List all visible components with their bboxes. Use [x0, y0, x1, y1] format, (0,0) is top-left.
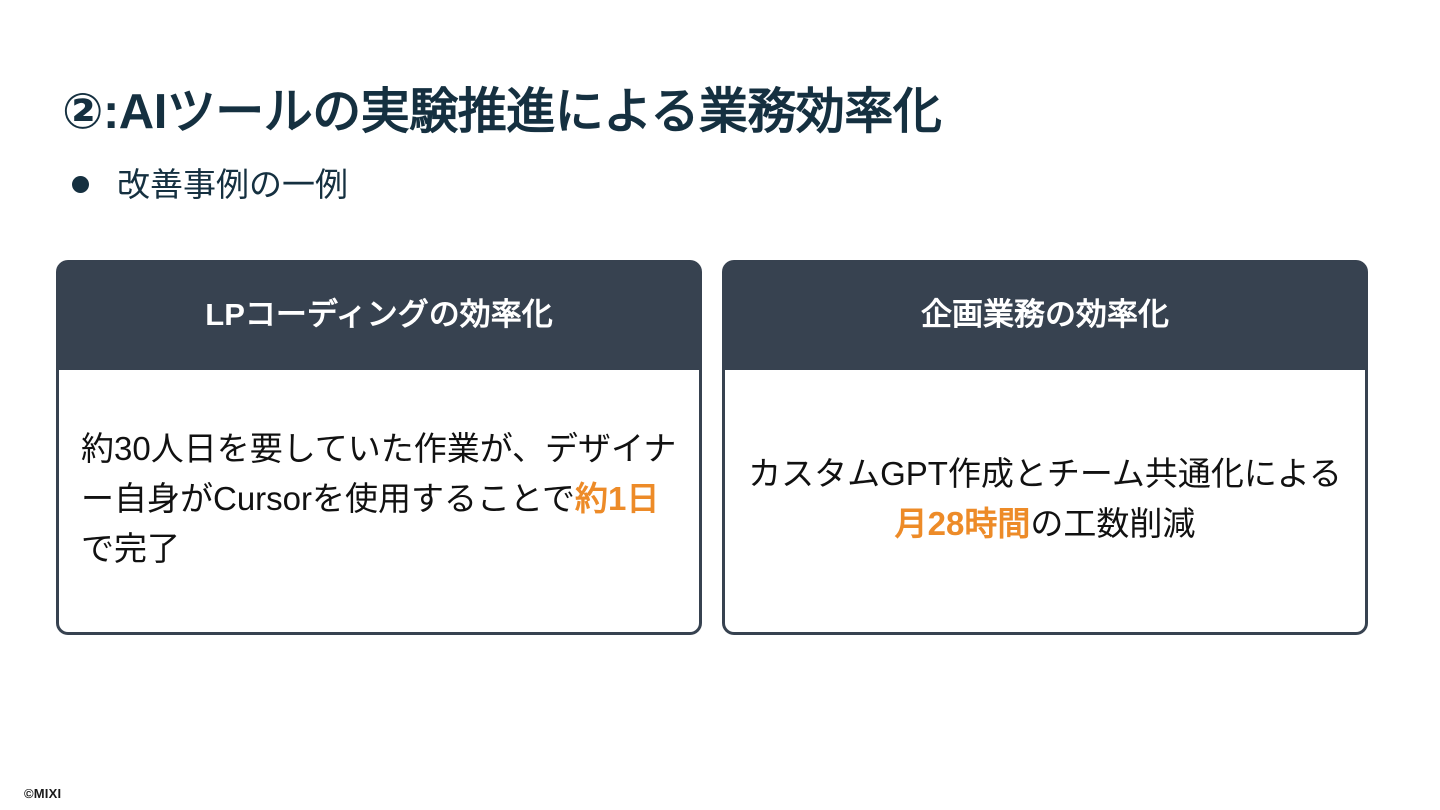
- bullet-item: 改善事例の一例: [72, 164, 348, 205]
- card-planning-work: 企画業務の効率化 カスタムGPT作成とチーム共通化による月28時間の工数削減: [722, 260, 1368, 635]
- card-lp-coding: LPコーディングの効率化 約30人日を要していた作業が、デザイナー自身がCurs…: [56, 260, 702, 635]
- copyright-mark: ©MIXI: [24, 786, 61, 801]
- card-body: カスタムGPT作成とチーム共通化による月28時間の工数削減: [722, 370, 1368, 635]
- highlighted-metric: 月28時間: [895, 505, 1031, 542]
- bullet-item-label: 改善事例の一例: [117, 164, 348, 205]
- card-header: LPコーディングの効率化: [56, 260, 702, 370]
- card-body: 約30人日を要していた作業が、デザイナー自身がCursorを使用することで約1日…: [56, 370, 702, 635]
- card-body-text: 約30人日を要していた作業が、デザイナー自身がCursorを使用することで約1日…: [81, 424, 677, 574]
- card-header-label: LPコーディングの効率化: [205, 296, 552, 333]
- body-text-run-2: で完了: [81, 530, 180, 567]
- body-text-run-2: の工数削減: [1030, 505, 1195, 542]
- highlighted-metric: 約1日: [575, 480, 659, 517]
- card-header-label: 企画業務の効率化: [921, 296, 1169, 333]
- page-title: ②:AIツールの実験推進による業務効率化: [62, 83, 1382, 142]
- bullet-dot-icon: [72, 176, 89, 193]
- body-text-run-0: カスタムGPT作成とチーム共通化による: [748, 455, 1342, 492]
- card-body-text: カスタムGPT作成とチーム共通化による月28時間の工数削減: [747, 449, 1343, 549]
- slide-canvas: ②:AIツールの実験推進による業務効率化 改善事例の一例 LPコーディングの効率…: [0, 0, 1440, 810]
- card-header: 企画業務の効率化: [722, 260, 1368, 370]
